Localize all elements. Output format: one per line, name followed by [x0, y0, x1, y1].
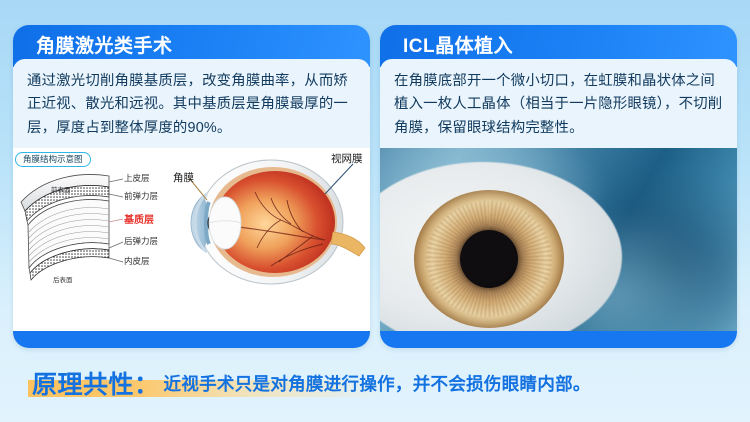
- banner-lead-text: 原理共性：: [32, 373, 160, 398]
- layer-label-stroma-highlight: 基质层: [124, 211, 154, 226]
- svg-text:前表面: 前表面: [51, 185, 71, 194]
- card-body-right: 在角膜底部开一个微小切口，在虹膜和晶状体之间植入一枚人工晶体（相当于一片隐形眼镜…: [380, 59, 737, 148]
- layer-label-endothelium: 内皮层: [124, 255, 150, 267]
- card-icl-lens-implant[interactable]: ICL晶体植入 在角膜底部开一个微小切口，在虹膜和晶状体之间植入一枚人工晶体（相…: [380, 25, 737, 348]
- figure-badge-corneal-structure: 角膜结构示意图: [15, 152, 91, 168]
- card-row: 角膜激光类手术 通过激光切削角膜基质层，改变角膜曲率，从而矫正近视、散光和远视。…: [0, 0, 750, 348]
- card-figure-left: 角膜结构示意图: [13, 148, 370, 331]
- banner-body-text: 近视手术只是对角膜进行操作，并不会损伤眼睛内部。: [164, 376, 591, 395]
- card-figure-right: [380, 148, 737, 331]
- eye-cross-section-diagram: [163, 148, 370, 294]
- eye-label-cornea: 角膜: [173, 170, 194, 185]
- layer-label-epithelium: 上皮层: [124, 172, 150, 184]
- card-description-right: 在角膜底部开一个微小切口，在虹膜和晶状体之间植入一枚人工晶体（相当于一片隐形眼镜…: [394, 70, 723, 140]
- card-corneal-laser-surgery[interactable]: 角膜激光类手术 通过激光切削角膜基质层，改变角膜曲率，从而矫正近视、散光和远视。…: [13, 25, 370, 348]
- card-title-right: ICL晶体植入: [403, 37, 513, 56]
- eyeball-photo: [380, 148, 737, 331]
- iris: [414, 190, 564, 328]
- eye-label-retina: 视网膜: [331, 151, 363, 166]
- card-footer-left: [13, 331, 370, 348]
- summary-banner: 原理共性： 近视手术只是对角膜进行操作，并不会损伤眼睛内部。: [0, 348, 750, 422]
- card-footer-right: [380, 331, 737, 348]
- layer-label-descemet: 后弹力层: [124, 235, 158, 247]
- pupil: [460, 230, 518, 288]
- card-title-left: 角膜激光类手术: [36, 37, 173, 56]
- card-body-left: 通过激光切削角膜基质层，改变角膜曲率，从而矫正近视、散光和远视。其中基质层是角膜…: [13, 59, 370, 148]
- svg-text:后表面: 后表面: [53, 275, 73, 284]
- card-description-left: 通过激光切削角膜基质层，改变角膜曲率，从而矫正近视、散光和远视。其中基质层是角膜…: [27, 70, 356, 140]
- layer-label-bowman: 前弹力层: [124, 190, 158, 202]
